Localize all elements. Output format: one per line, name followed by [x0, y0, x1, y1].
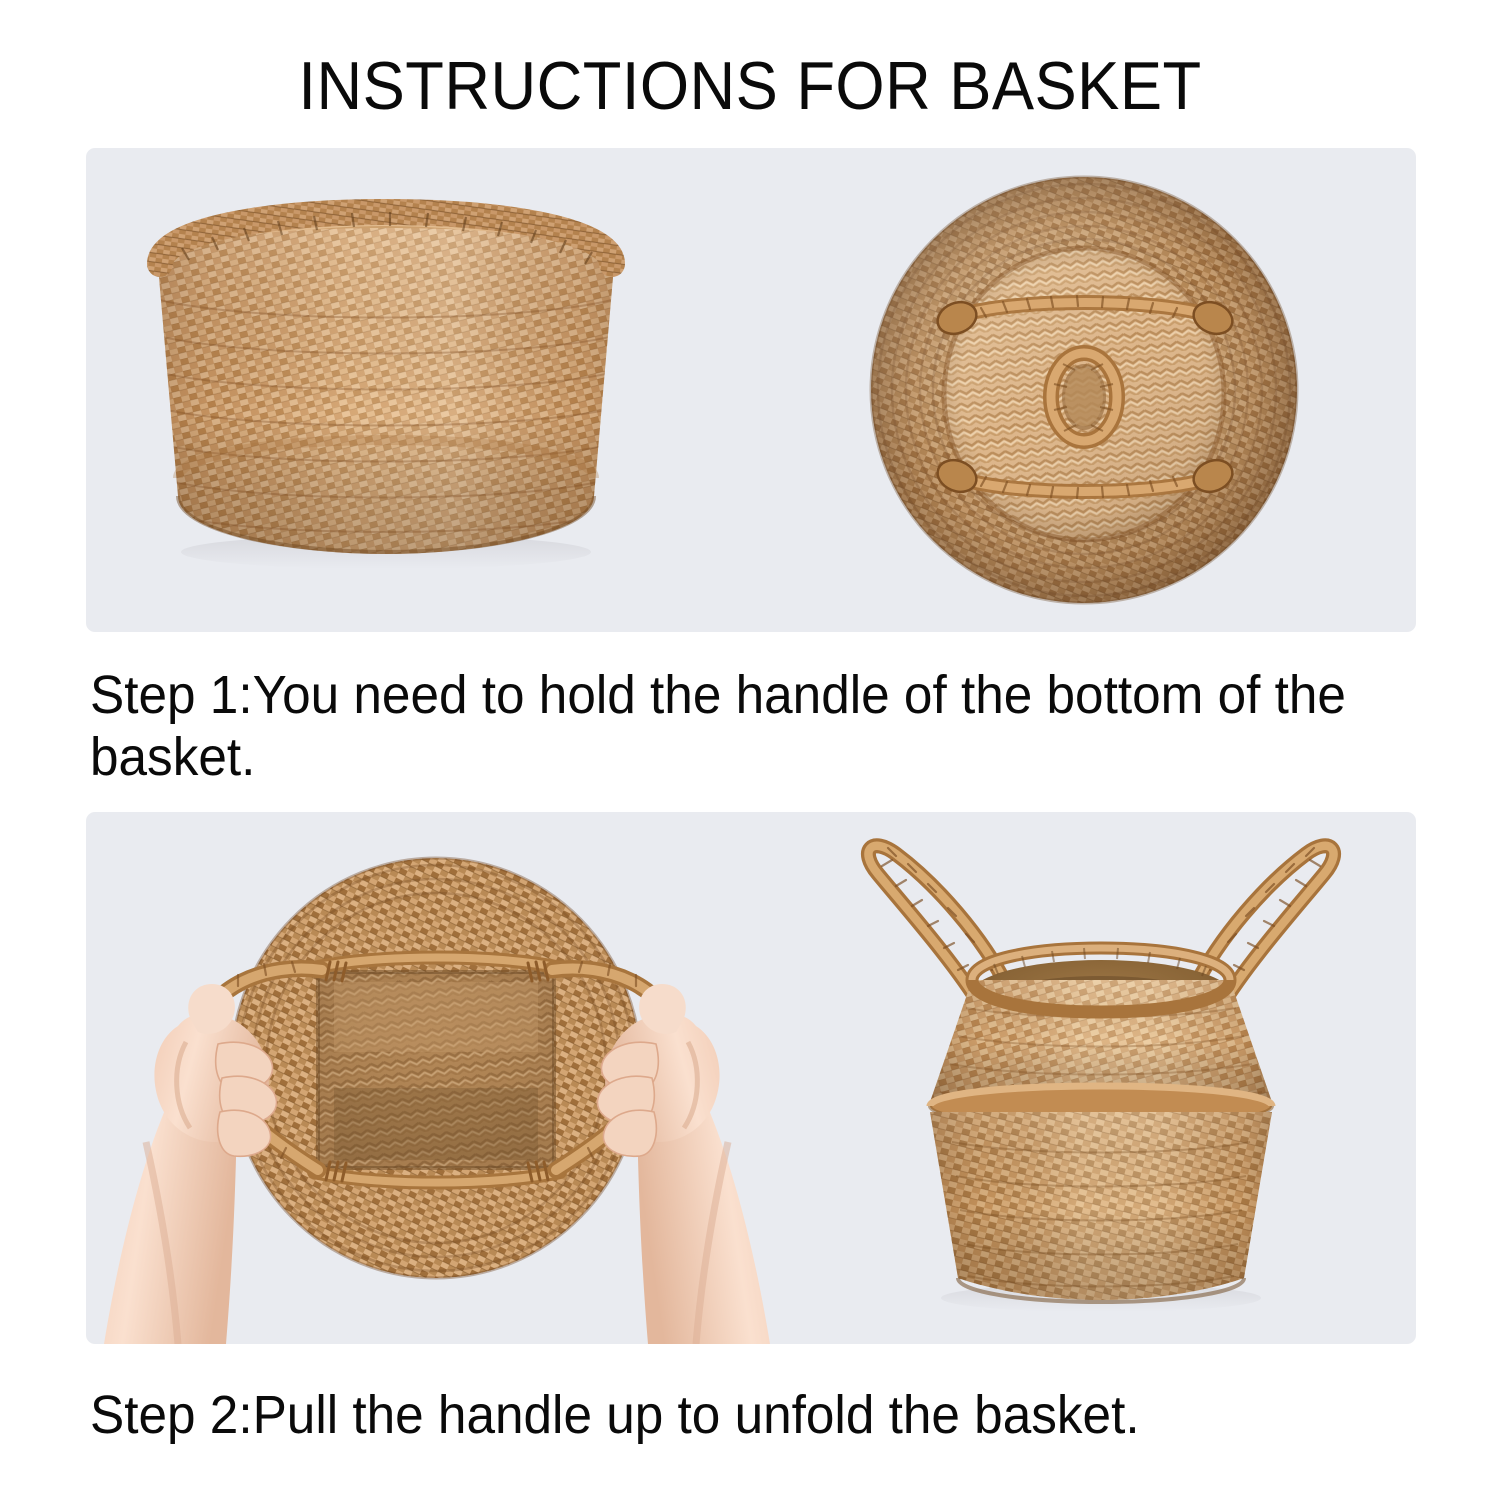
- step-1-caption: Step 1:You need to hold the handle of th…: [90, 664, 1354, 788]
- folded-basket-side-view: [86, 148, 751, 632]
- right-hand: [597, 984, 770, 1344]
- instruction-sheet: INSTRUCTIONS FOR BASKET: [0, 0, 1500, 1500]
- hands-holding-handles: [86, 812, 786, 1344]
- folded-basket-top-view: [751, 148, 1416, 632]
- step-2-caption: Step 2:Pull the handle up to unfold the …: [90, 1384, 1354, 1446]
- unfolded-basket: [786, 812, 1416, 1344]
- left-hand: [104, 984, 277, 1344]
- page-title: INSTRUCTIONS FOR BASKET: [53, 48, 1448, 124]
- step-2-image-panel: [86, 812, 1416, 1344]
- step-1-image-panel: [86, 148, 1416, 632]
